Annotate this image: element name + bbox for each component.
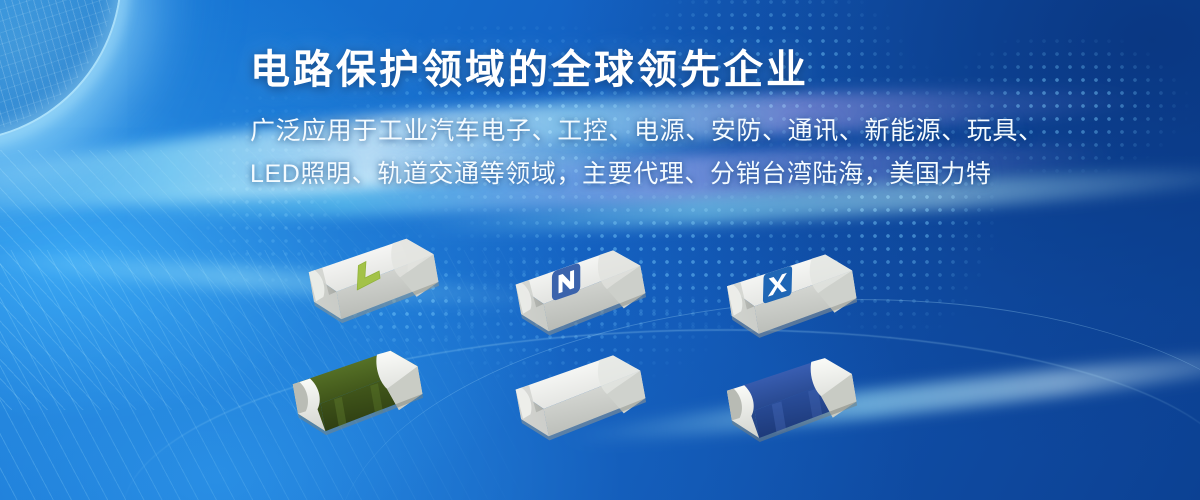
product-fuse-green-body[interactable] bbox=[266, 343, 429, 454]
product-fuse-blue-body[interactable] bbox=[700, 350, 862, 460]
product-fuse-n-blue-badge[interactable] bbox=[488, 242, 651, 354]
product-fuse-l-green-mark[interactable] bbox=[282, 231, 445, 342]
product-fuse-x-blue-badge[interactable] bbox=[700, 247, 862, 355]
product-fuse-plain-white[interactable] bbox=[488, 347, 651, 459]
promo-banner: 电路保护领域的全球领先企业 广泛应用于工业汽车电子、工控、电源、安防、通讯、新能… bbox=[0, 0, 1200, 500]
product-gallery bbox=[0, 0, 1200, 500]
